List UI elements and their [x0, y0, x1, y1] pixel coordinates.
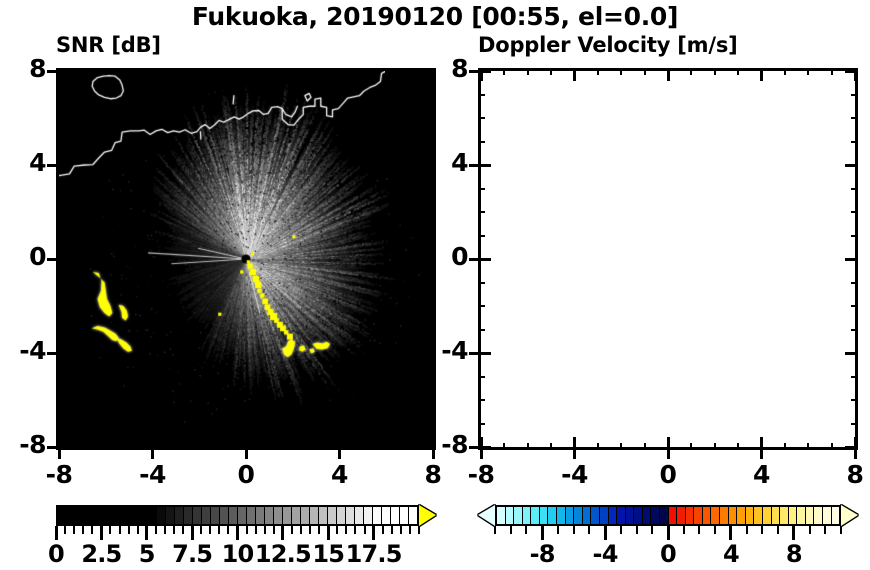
xtick-top-dop-0: [667, 68, 670, 81]
snr-colorbar-cell-13: [174, 507, 183, 524]
ytick-snr-2: [56, 211, 63, 213]
doppler-colorbar-cell-3: [522, 507, 531, 524]
doppler-colorbar-cell-30: [753, 507, 762, 524]
doppler-colorbar-cell-33: [779, 507, 788, 524]
snr-plot-panel[interactable]: [56, 68, 436, 450]
doppler-colorbar-tick--7: [557, 526, 559, 534]
xtick-snr--2: [198, 443, 200, 450]
doppler-colorbar-cell-12: [599, 507, 608, 524]
snr-colorbar-tick-4: [128, 526, 130, 534]
ytick-right-snr-2: [429, 211, 436, 213]
doppler-colorbar-cell-18: [650, 507, 659, 524]
xtick-top-dop--4: [573, 68, 576, 81]
ytick-right-dop--6: [851, 399, 858, 401]
snr-colorbar-tick-16: [345, 526, 347, 534]
xtick-snr-5: [362, 443, 364, 450]
snr-colorbar-cell-32: [345, 507, 354, 524]
ytick-right-snr--2: [429, 305, 436, 307]
snr-colorbar-tick-10: [236, 526, 239, 540]
ytick-right-dop-1: [851, 235, 858, 237]
ytick-dop-6: [478, 117, 485, 119]
snr-colorbar-tick-3: [109, 526, 111, 534]
xtick-dop-6: [807, 443, 809, 450]
ytick-dop--4: [478, 352, 491, 355]
snr-colorbar-cell-7: [120, 507, 129, 524]
snr-colorbar-cell-3: [84, 507, 93, 524]
ytick-right-dop-3: [851, 188, 858, 190]
snr-colorbar-label-7: 17.5: [334, 540, 414, 568]
snr-colorbar-tick-8: [200, 526, 202, 534]
snr-colorbar-tick-17.5: [372, 526, 375, 540]
snr-colorbar-tick-19: [400, 526, 402, 534]
doppler-colorbar-cell-7: [556, 507, 565, 524]
xtick-top-snr-6: [385, 68, 387, 75]
ytick-label-dop-1: 4: [420, 148, 468, 177]
ytick-right-dop--2: [851, 305, 858, 307]
snr-colorbar-cell-18: [219, 507, 228, 524]
doppler-colorbar-cell-11: [590, 507, 599, 524]
xtick-top-dop--2: [620, 68, 622, 75]
ytick-out-snr-8: [47, 70, 56, 73]
xtick-top-snr--4: [151, 68, 154, 81]
snr-colorbar-tick-3.5: [119, 526, 121, 534]
ytick-right-snr-1: [429, 235, 436, 237]
ytick-out-dop-0: [469, 258, 478, 261]
snr-colorbar-tick-19.5: [409, 526, 411, 534]
snr-colorbar-cell-23: [264, 507, 273, 524]
xtick-snr--3: [175, 443, 177, 450]
ytick-label-snr-2: 0: [0, 242, 46, 271]
doppler-colorbar-tick-10: [824, 526, 826, 534]
snr-colorbar-tick-8.5: [209, 526, 211, 534]
ytick-out-dop-4: [469, 164, 478, 167]
snr-colorbar-tick-5.5: [155, 526, 157, 534]
xtick-dop--2: [620, 443, 622, 450]
doppler-colorbar-cell-26: [719, 507, 728, 524]
doppler-colorbar-tick--4: [604, 526, 607, 540]
snr-colorbar-tick-11: [255, 526, 257, 534]
ytick-snr--2: [56, 305, 63, 307]
ytick-dop-1: [478, 235, 485, 237]
ytick-label-dop-2: 0: [420, 242, 468, 271]
ytick-right-dop-2: [851, 211, 858, 213]
doppler-colorbar-cell-21: [676, 507, 685, 524]
snr-colorbar-tick-2.5: [100, 526, 103, 540]
snr-colorbar-cell-27: [300, 507, 309, 524]
snr-colorbar-tick-4.5: [137, 526, 139, 534]
ytick-right-dop--7: [851, 423, 858, 425]
snr-colorbar-gradient: [56, 505, 419, 526]
doppler-colorbar-cell-17: [642, 507, 651, 524]
ytick-snr-6: [56, 117, 63, 119]
snr-colorbar-tick-2: [91, 526, 93, 534]
ytick-dop--2: [478, 305, 485, 307]
snr-colorbar-cell-11: [156, 507, 165, 524]
xtick-dop--6: [527, 443, 529, 450]
xtick-dop--1: [644, 443, 646, 450]
snr-colorbar-cell-14: [183, 507, 192, 524]
ytick-snr-3: [56, 188, 63, 190]
ytick-right-snr--3: [429, 329, 436, 331]
xtick-dop--5: [550, 443, 552, 450]
ytick-snr-8: [56, 70, 69, 73]
snr-colorbar-tick-18: [382, 526, 384, 534]
ytick-dop-5: [478, 141, 485, 143]
doppler-colorbar-cell-10: [582, 507, 591, 524]
xtick-out-snr-0: [245, 450, 248, 459]
ytick-dop-2: [478, 211, 485, 213]
xtick-label-dop-4: 8: [815, 460, 870, 489]
xtick-out-snr--8: [58, 450, 61, 459]
snr-colorbar-tick-1.5: [82, 526, 84, 534]
doppler-panel-title: Doppler Velocity [m/s]: [478, 33, 738, 57]
xtick-label-dop-2: 0: [628, 460, 708, 489]
snr-colorbar-tick-15: [327, 526, 330, 540]
ytick-dop--7: [478, 423, 485, 425]
ytick-dop-4: [478, 164, 491, 167]
doppler-colorbar-tick--3: [620, 526, 622, 534]
snr-panel-title: SNR [dB]: [56, 33, 161, 57]
snr-colorbar-cell-15: [192, 507, 201, 524]
snr-colorbar-cell-25: [282, 507, 291, 524]
snr-colorbar-cell-10: [147, 507, 156, 524]
ytick-right-dop--8: [845, 446, 858, 449]
xtick-dop-2: [714, 443, 716, 450]
xtick-top-snr-5: [362, 68, 364, 75]
snr-colorbar-tick-18.5: [391, 526, 393, 534]
xtick-dop--3: [597, 443, 599, 450]
doppler-colorbar-cell-23: [693, 507, 702, 524]
snr-colorbar-tick-7: [182, 526, 184, 534]
xtick-snr--6: [105, 443, 107, 450]
snr-colorbar-cell-34: [363, 507, 372, 524]
ytick-right-snr--7: [429, 423, 436, 425]
ytick-right-snr--5: [429, 376, 436, 378]
snr-colorbar-cell-16: [201, 507, 210, 524]
xtick-top-snr--6: [105, 68, 107, 75]
ytick-out-dop--8: [469, 446, 478, 449]
ytick-right-dop-5: [851, 141, 858, 143]
doppler-plot-canvas: [481, 71, 855, 447]
snr-colorbar-cell-28: [309, 507, 318, 524]
ytick-snr--5: [56, 376, 63, 378]
ytick-dop-7: [478, 94, 485, 96]
doppler-colorbar-cell-15: [625, 507, 634, 524]
snr-colorbar-cell-37: [390, 507, 399, 524]
xtick-snr--1: [222, 443, 224, 450]
xtick-out-snr-4: [338, 450, 341, 459]
ytick-snr--4: [56, 352, 69, 355]
xtick-out-dop--8: [480, 450, 483, 459]
ytick-label-snr-0: 8: [0, 54, 46, 83]
xtick-top-dop--5: [550, 68, 552, 75]
doppler-colorbar-cell-5: [539, 507, 548, 524]
xtick-snr--5: [128, 443, 130, 450]
snr-colorbar-tick-0.5: [64, 526, 66, 534]
snr-colorbar[interactable]: [56, 505, 436, 527]
doppler-colorbar-cell-39: [831, 507, 840, 524]
xtick-dop-5: [784, 443, 786, 450]
snr-plot-canvas: [59, 71, 433, 447]
ytick-out-snr-4: [47, 164, 56, 167]
ytick-right-dop-4: [845, 164, 858, 167]
snr-colorbar-cell-19: [228, 507, 237, 524]
snr-colorbar-cell-17: [210, 507, 219, 524]
xtick-label-dop-1: -4: [535, 460, 615, 489]
snr-colorbar-tick-10.5: [246, 526, 248, 534]
ytick-snr--6: [56, 399, 63, 401]
snr-colorbar-cell-9: [138, 507, 147, 524]
ytick-snr--3: [56, 329, 63, 331]
doppler-colorbar-cell-19: [659, 507, 668, 524]
xtick-snr-0: [245, 437, 248, 450]
xtick-top-snr--5: [128, 68, 130, 75]
snr-colorbar-cell-1: [66, 507, 75, 524]
ytick-snr-4: [56, 164, 69, 167]
xtick-out-dop-0: [667, 450, 670, 459]
snr-colorbar-cell-33: [354, 507, 363, 524]
doppler-colorbar-cell-28: [736, 507, 745, 524]
doppler-colorbar-cell-4: [530, 507, 539, 524]
doppler-colorbar-tick-3: [714, 526, 716, 534]
doppler-colorbar-label-4: 8: [754, 540, 834, 568]
xtick-label-snr-3: 4: [300, 460, 380, 489]
doppler-colorbar-cell-13: [608, 507, 617, 524]
doppler-colorbar-cell-25: [710, 507, 719, 524]
snr-colorbar-tick-0: [55, 526, 58, 540]
xtick-top-snr--7: [81, 68, 83, 75]
xtick-top-snr-1: [268, 68, 270, 75]
xtick-top-dop-6: [807, 68, 809, 75]
doppler-colorbar-tick-0: [667, 526, 670, 540]
ytick-dop--6: [478, 399, 485, 401]
ytick-dop--5: [478, 376, 485, 378]
ytick-out-dop-8: [469, 70, 478, 73]
doppler-colorbar-cell-0: [497, 507, 505, 524]
snr-colorbar-tick-13.5: [300, 526, 302, 534]
snr-colorbar-tick-1: [73, 526, 75, 534]
snr-colorbar-cell-29: [318, 507, 327, 524]
ytick-out-snr--8: [47, 446, 56, 449]
xtick-top-snr-7: [409, 68, 411, 75]
xtick-snr-4: [338, 437, 341, 450]
xtick-dop-4: [760, 437, 763, 450]
xtick-dop--7: [503, 443, 505, 450]
doppler-colorbar-tick-9: [809, 526, 811, 534]
doppler-plot-panel[interactable]: [478, 68, 858, 450]
snr-colorbar-cell-4: [93, 507, 102, 524]
xtick-label-snr-1: -4: [113, 460, 193, 489]
xtick-label-dop-0: -8: [441, 460, 521, 489]
xtick-out-dop-4: [760, 450, 763, 459]
doppler-colorbar-cell-32: [771, 507, 780, 524]
doppler-colorbar-cell-20: [668, 507, 677, 524]
doppler-colorbar-under-arrow: [478, 505, 495, 526]
snr-colorbar-over-arrow: [419, 505, 436, 526]
xtick-snr-2: [292, 443, 294, 450]
snr-colorbar-tick-5: [145, 526, 148, 540]
snr-colorbar-tick-9: [218, 526, 220, 534]
xtick-label-snr-2: 0: [206, 460, 286, 489]
xtick-top-dop--1: [644, 68, 646, 75]
doppler-colorbar-tick-1: [683, 526, 685, 534]
ytick-right-snr-3: [429, 188, 436, 190]
xtick-dop-7: [831, 443, 833, 450]
ytick-right-dop--5: [851, 376, 858, 378]
xtick-top-snr-3: [315, 68, 317, 75]
doppler-colorbar-cell-35: [796, 507, 805, 524]
snr-colorbar-cell-20: [237, 507, 246, 524]
ytick-snr--8: [56, 446, 69, 449]
ytick-snr-0: [56, 258, 69, 261]
doppler-colorbar-cell-14: [616, 507, 625, 524]
snr-colorbar-tick-6.5: [173, 526, 175, 534]
ytick-snr-7: [56, 94, 63, 96]
snr-colorbar-cell-22: [255, 507, 264, 524]
doppler-colorbar-tick--1: [651, 526, 653, 534]
ytick-right-snr--6: [429, 399, 436, 401]
xtick-dop--4: [573, 437, 576, 450]
ytick-dop-8: [478, 70, 491, 73]
doppler-colorbar-cell-38: [822, 507, 831, 524]
snr-colorbar-tick-14: [309, 526, 311, 534]
xtick-top-dop--6: [527, 68, 529, 75]
ytick-snr-1: [56, 235, 63, 237]
snr-colorbar-tick-12: [273, 526, 275, 534]
snr-colorbar-cell-35: [372, 507, 381, 524]
snr-colorbar-cell-2: [75, 507, 84, 524]
ytick-right-dop-6: [851, 117, 858, 119]
doppler-colorbar-tick--9: [525, 526, 527, 534]
snr-colorbar-cell-21: [246, 507, 255, 524]
xtick-top-snr-2: [292, 68, 294, 75]
doppler-colorbar-cell-9: [573, 507, 582, 524]
doppler-colorbar-tick--10: [510, 526, 512, 534]
snr-colorbar-cell-24: [273, 507, 282, 524]
doppler-colorbar-cell-27: [728, 507, 737, 524]
doppler-colorbar-cell-8: [565, 507, 574, 524]
xtick-top-dop--7: [503, 68, 505, 75]
doppler-colorbar-cell-31: [762, 507, 771, 524]
snr-colorbar-tick-14.5: [318, 526, 320, 534]
ytick-label-dop-3: -4: [420, 336, 468, 365]
xtick-top-dop-2: [714, 68, 716, 75]
xtick-top-snr-0: [245, 68, 248, 81]
ytick-dop--8: [478, 446, 491, 449]
snr-colorbar-cell-38: [399, 507, 408, 524]
snr-colorbar-cell-39: [408, 507, 417, 524]
doppler-colorbar-over-arrow: [841, 505, 858, 526]
xtick-top-dop-4: [760, 68, 763, 81]
snr-colorbar-tick-6: [164, 526, 166, 534]
xtick-out-dop-8: [854, 450, 857, 459]
xtick-snr-7: [409, 443, 411, 450]
xtick-label-dop-3: 4: [722, 460, 802, 489]
ytick-right-dop--1: [851, 282, 858, 284]
snr-colorbar-tick-9.5: [227, 526, 229, 534]
ytick-right-snr-6: [429, 117, 436, 119]
doppler-colorbar-cell-2: [513, 507, 522, 524]
doppler-colorbar-tick--5: [588, 526, 590, 534]
doppler-colorbar-cell-6: [547, 507, 556, 524]
xtick-dop-1: [690, 443, 692, 450]
ytick-right-snr-7: [429, 94, 436, 96]
snr-colorbar-cell-26: [291, 507, 300, 524]
doppler-colorbar-tick-8: [792, 526, 795, 540]
doppler-colorbar-cell-29: [745, 507, 754, 524]
ytick-right-snr-5: [429, 141, 436, 143]
xtick-top-dop-3: [737, 68, 739, 75]
xtick-out-snr--4: [151, 450, 154, 459]
ytick-out-snr--4: [47, 352, 56, 355]
xtick-out-dop--4: [573, 450, 576, 459]
ytick-dop-3: [478, 188, 485, 190]
doppler-colorbar-cell-16: [633, 507, 642, 524]
xtick-top-snr--1: [222, 68, 224, 75]
snr-colorbar-tick-11.5: [264, 526, 266, 534]
ytick-dop--3: [478, 329, 485, 331]
snr-colorbar-cell-8: [129, 507, 138, 524]
ytick-snr--7: [56, 423, 63, 425]
doppler-colorbar-cell-34: [788, 507, 797, 524]
xtick-snr-1: [268, 443, 270, 450]
xtick-top-dop--3: [597, 68, 599, 75]
ytick-right-dop--3: [851, 329, 858, 331]
xtick-snr-3: [315, 443, 317, 450]
ytick-out-dop--4: [469, 352, 478, 355]
snr-colorbar-cell-6: [111, 507, 120, 524]
xtick-snr-6: [385, 443, 387, 450]
doppler-colorbar-tick--6: [573, 526, 575, 534]
xtick-top-snr--2: [198, 68, 200, 75]
xtick-snr--4: [151, 437, 154, 450]
ytick-label-snr-3: -4: [0, 336, 46, 365]
ytick-label-snr-1: 4: [0, 148, 46, 177]
xtick-snr--7: [81, 443, 83, 450]
xtick-label-snr-0: -8: [19, 460, 99, 489]
ytick-label-dop-0: 8: [420, 54, 468, 83]
doppler-colorbar-cell-37: [813, 507, 822, 524]
snr-colorbar-tick-20: [418, 526, 420, 534]
snr-colorbar-tick-13: [291, 526, 293, 534]
doppler-colorbar-tick--8: [541, 526, 544, 540]
doppler-colorbar[interactable]: [478, 505, 858, 527]
snr-colorbar-tick-17: [364, 526, 366, 534]
snr-colorbar-tick-16.5: [354, 526, 356, 534]
ytick-right-dop-7: [851, 94, 858, 96]
xtick-top-dop-7: [831, 68, 833, 75]
ytick-right-dop--4: [845, 352, 858, 355]
ytick-label-dop-4: -8: [420, 430, 468, 459]
snr-colorbar-cell-0: [58, 507, 66, 524]
doppler-colorbar-cell-1: [505, 507, 514, 524]
ytick-dop-0: [478, 258, 491, 261]
ytick-snr--1: [56, 282, 63, 284]
ytick-out-snr-0: [47, 258, 56, 261]
doppler-colorbar-cell-36: [805, 507, 814, 524]
snr-colorbar-cell-12: [165, 507, 174, 524]
ytick-dop--1: [478, 282, 485, 284]
doppler-colorbar-cell-22: [685, 507, 694, 524]
ytick-right-dop-8: [845, 70, 858, 73]
snr-colorbar-tick-15.5: [336, 526, 338, 534]
ytick-right-dop-0: [845, 258, 858, 261]
radar-figure: Fukuoka, 20190120 [00:55, el=0.0] SNR [d…: [0, 0, 870, 570]
xtick-top-dop-1: [690, 68, 692, 75]
ytick-label-snr-4: -8: [0, 430, 46, 459]
doppler-colorbar-tick-4: [729, 526, 732, 540]
doppler-colorbar-tick-11: [840, 526, 842, 534]
